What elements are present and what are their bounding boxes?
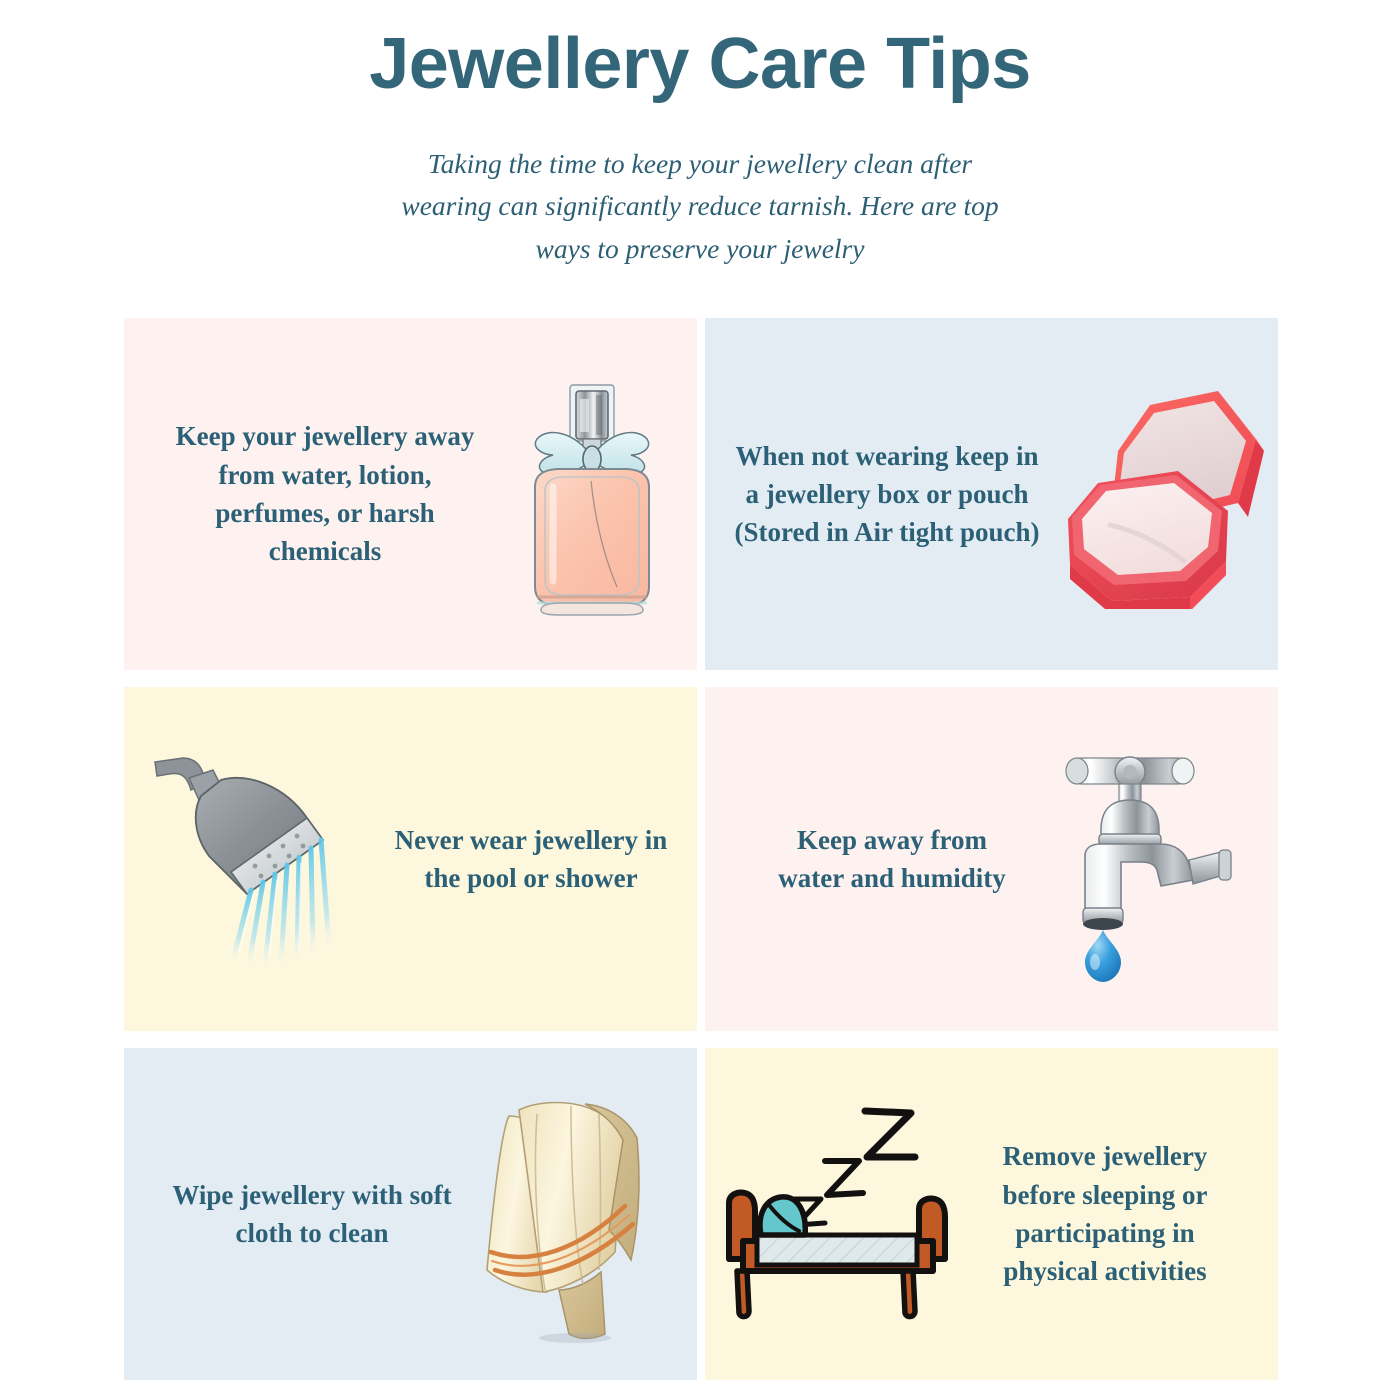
- tip-card-5[interactable]: Wipe jewellery with soft cloth to clean: [124, 1048, 697, 1380]
- tip-card-6[interactable]: Remove jewellery before sleeping or part…: [705, 1048, 1278, 1380]
- tip-card-3-art: [132, 687, 391, 1031]
- perfume-bottle-icon: [491, 369, 691, 619]
- bed-sleep-icon: [713, 1099, 973, 1329]
- tip-card-4-label: Keep away from water and humidity: [767, 821, 1017, 898]
- faucet-drip-icon: [1043, 734, 1253, 984]
- tip-card-6-label: Remove jewellery before sleeping or part…: [980, 1137, 1230, 1290]
- tip-card-4-art: [1017, 687, 1278, 1031]
- tip-card-3-label: Never wear jewellery in the pool or show…: [391, 821, 671, 898]
- tip-card-6-art: [705, 1048, 980, 1380]
- tip-card-2-label: When not wearing keep in a jewellery box…: [727, 437, 1047, 552]
- tip-card-4[interactable]: Keep away from water and humidity: [705, 687, 1278, 1031]
- tip-card-2-art: [1047, 318, 1278, 670]
- tip-card-1[interactable]: Keep your jewellery away from water, lot…: [124, 318, 697, 670]
- tips-grid: Keep your jewellery away from water, lot…: [124, 318, 1278, 1380]
- tip-card-5-label: Wipe jewellery with soft cloth to clean: [172, 1176, 452, 1253]
- jewellery-box-icon: [1058, 379, 1268, 609]
- page-title: Jewellery Care Tips: [0, 24, 1400, 105]
- tip-card-2[interactable]: When not wearing keep in a jewellery box…: [705, 318, 1278, 670]
- shower-head-icon: [147, 744, 377, 974]
- tip-card-1-label: Keep your jewellery away from water, lot…: [160, 417, 490, 570]
- page-header: Jewellery Care Tips Taking the time to k…: [0, 0, 1400, 271]
- page-subtitle: Taking the time to keep your jewellery c…: [380, 143, 1020, 271]
- tip-card-5-art: [452, 1048, 697, 1380]
- infographic-page: Jewellery Care Tips Taking the time to k…: [0, 0, 1400, 1400]
- tip-card-3[interactable]: Never wear jewellery in the pool or show…: [124, 687, 697, 1031]
- tip-card-1-art: [490, 318, 691, 670]
- soft-cloth-icon: [475, 1084, 675, 1344]
